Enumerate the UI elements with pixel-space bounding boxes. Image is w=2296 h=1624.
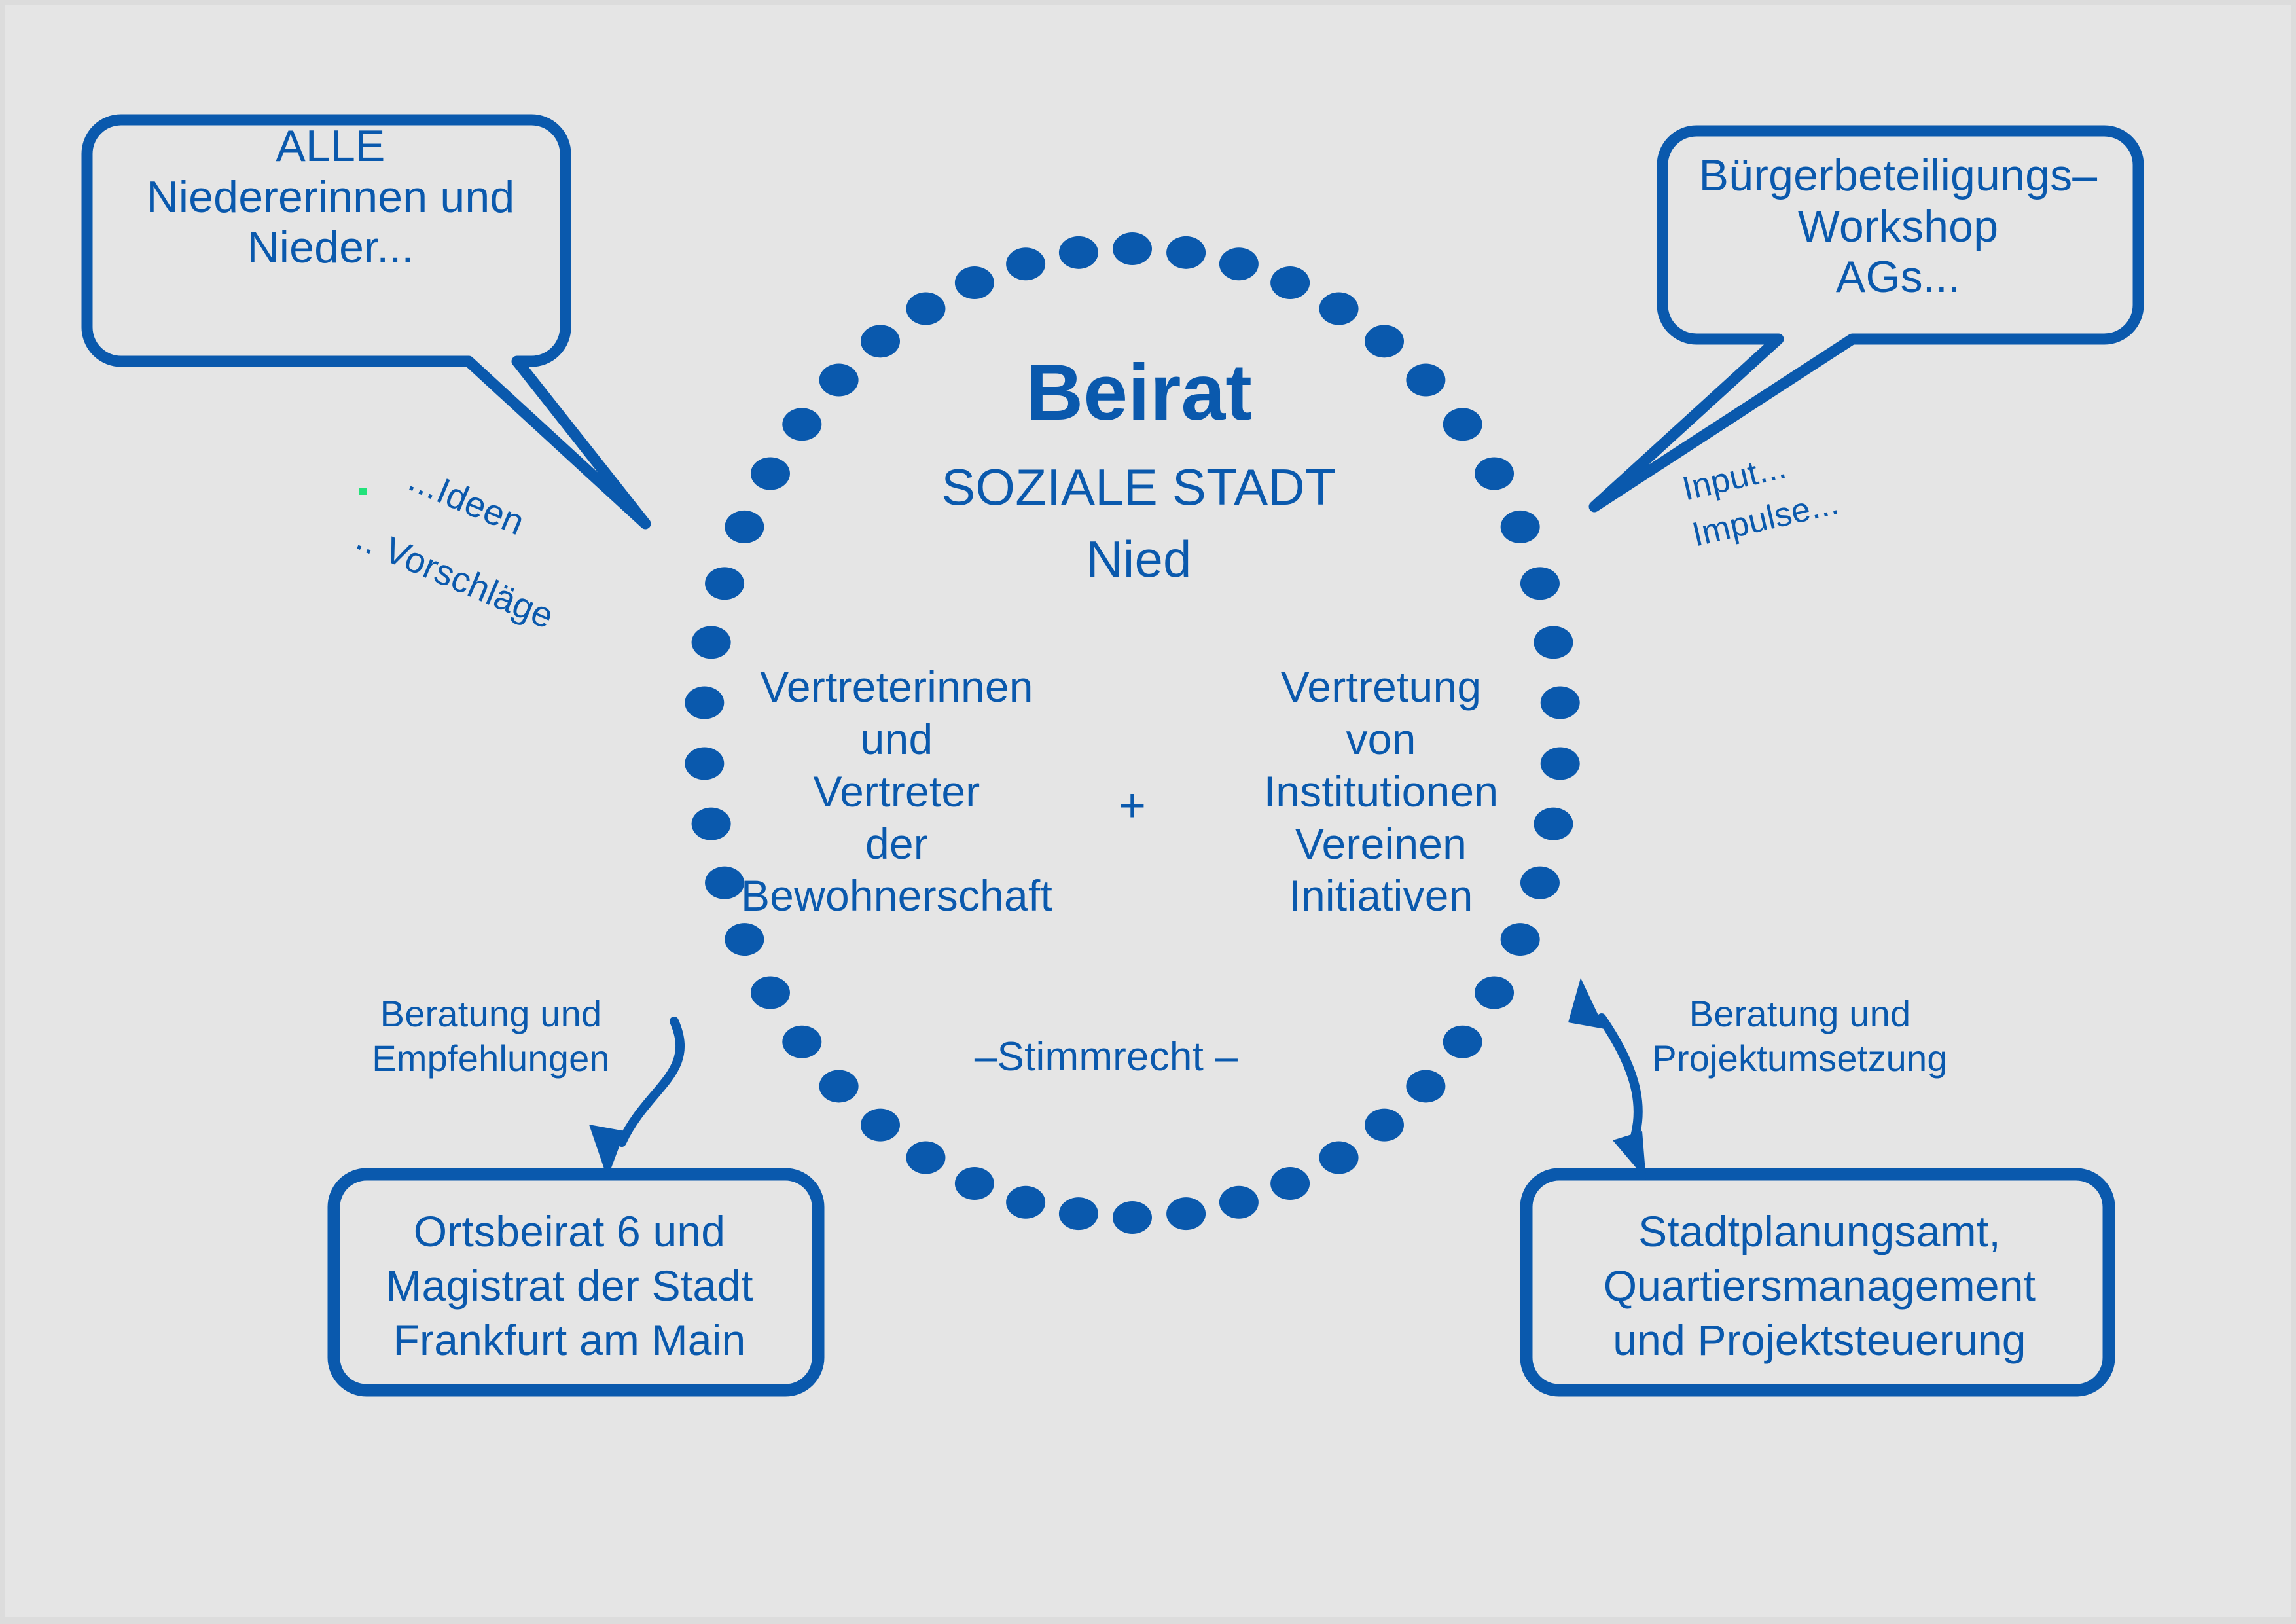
speech-bubble-right-label: Bürgerbeteiligungs– Workshop AGs... [1656, 151, 2140, 303]
ring-dot [1166, 236, 1206, 269]
ring-dot [1406, 1070, 1445, 1102]
ring-dot [1006, 1186, 1045, 1219]
ring-dot [692, 626, 731, 659]
page-title: Beirat [759, 347, 1518, 438]
ring-dot [1113, 1201, 1152, 1234]
ring-dot [1059, 236, 1098, 269]
ring-dot [861, 1109, 900, 1142]
green-marker-dot [359, 488, 367, 495]
members-column-left: Vertreterinnen und Vertreter der Bewohne… [694, 661, 1100, 922]
ring-dot [1475, 977, 1514, 1009]
ring-dot [751, 977, 790, 1009]
plus-symbol: + [1086, 779, 1178, 833]
ring-dot [1059, 1197, 1098, 1230]
page-subtitle-line1: SOZIALE STADT [759, 458, 1518, 516]
ring-dot [1166, 1197, 1206, 1230]
ring-dot [955, 266, 994, 299]
ring-dot [1534, 626, 1573, 659]
diagram-canvas: ALLE Niedererinnen und Nieder... Bürgerb… [0, 0, 2296, 1624]
ring-dot [1319, 1141, 1359, 1174]
ring-dot [1270, 266, 1310, 299]
box-ortsbeirat-label: Ortsbeirat 6 und Magistrat der Stadt Fra… [340, 1204, 798, 1367]
ring-dot [1113, 232, 1152, 265]
annotation-beratung-projektumsetzung: Beratung und Projektumsetzung [1630, 992, 1970, 1081]
ring-dot [906, 293, 945, 325]
page-subtitle-line2: Nied [759, 530, 1518, 588]
ring-dot [906, 1141, 945, 1174]
box-stadtplanungsamt-label: Stadtplanungsamt, Quartiersmanagement un… [1538, 1204, 2101, 1367]
ring-dot [725, 511, 764, 543]
annotation-beratung-empfehlungen: Beratung und Empfehlungen [353, 992, 628, 1081]
ring-dot [1219, 1186, 1259, 1219]
ring-dot [955, 1167, 994, 1200]
ring-dot [819, 1070, 859, 1102]
voting-rights-note: –Stimmrecht – [903, 1034, 1309, 1081]
ring-dot [725, 923, 764, 956]
ring-dot [1006, 247, 1045, 280]
ring-dot [1520, 567, 1560, 600]
ring-dot [1501, 923, 1540, 956]
ring-dot [782, 1026, 821, 1058]
ring-dot [1270, 1167, 1310, 1200]
ring-dot [1443, 1026, 1482, 1058]
speech-bubble-left-label: ALLE Niedererinnen und Nieder... [98, 121, 563, 274]
ring-dot [1219, 247, 1259, 280]
ring-dot [1319, 293, 1359, 325]
members-column-right: Vertretung von Institutionen Vereinen In… [1178, 661, 1584, 922]
ring-dot [1365, 1109, 1404, 1142]
ring-dot [705, 567, 744, 600]
